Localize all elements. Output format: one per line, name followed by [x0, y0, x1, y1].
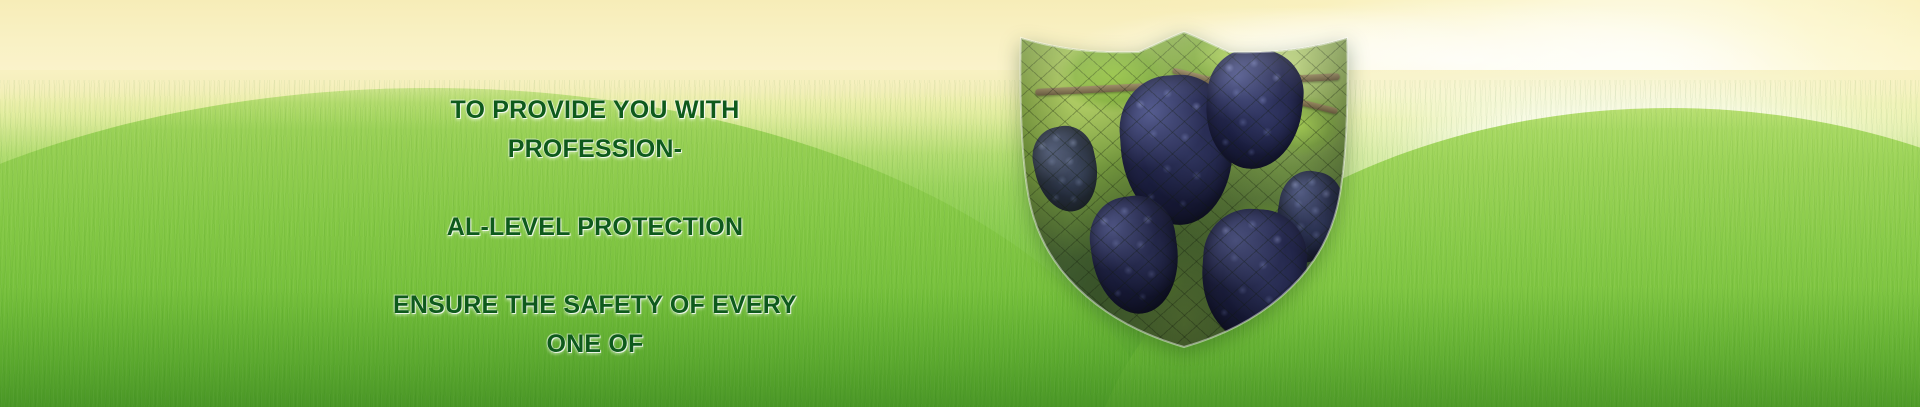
- headline-line-3: ENSURE THE SAFETY OF EVERY ONE OF: [380, 286, 810, 364]
- hero-banner: TO PROVIDE YOU WITH PROFESSION- AL-LEVEL…: [0, 0, 1920, 407]
- grass-texture: [0, 80, 1920, 407]
- shield-vineyard-emblem: [1007, 30, 1362, 350]
- horizon-haze: [0, 70, 1920, 130]
- headline-line-1: TO PROVIDE YOU WITH PROFESSION-: [380, 91, 810, 169]
- photo-shading-overlay: [1007, 30, 1362, 350]
- banner-headline: TO PROVIDE YOU WITH PROFESSION- AL-LEVEL…: [380, 52, 810, 407]
- grass-shadow-bottom: [0, 287, 1920, 407]
- shield-photo-clip: [1007, 30, 1362, 350]
- headline-line-4: THE FRUIT: [380, 403, 810, 407]
- headline-line-2: AL-LEVEL PROTECTION: [380, 208, 810, 247]
